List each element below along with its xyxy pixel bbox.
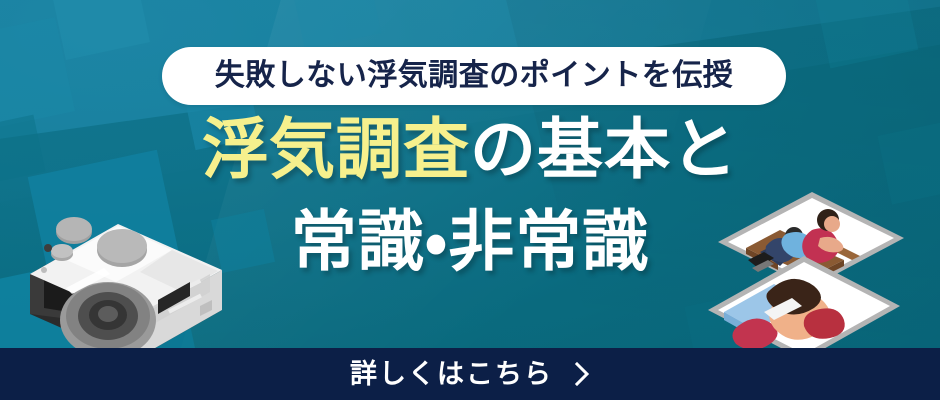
photo-card-lower xyxy=(708,256,900,360)
camera-illustration xyxy=(22,188,237,360)
promo-banner[interactable]: 失敗しない浮気調査のポイントを伝授 浮気調査の基本と 常識・非常識 xyxy=(0,0,940,400)
cta-bar[interactable]: 詳しくはこちら xyxy=(0,348,940,400)
promo-badge: 失敗しない浮気調査のポイントを伝授 xyxy=(162,47,786,105)
surveillance-photo-cards xyxy=(708,186,934,362)
cta-label: 詳しくはこちら xyxy=(350,361,553,388)
chevron-right-icon xyxy=(575,362,590,386)
promo-badge-label: 失敗しない浮気調査のポイントを伝授 xyxy=(215,61,734,91)
